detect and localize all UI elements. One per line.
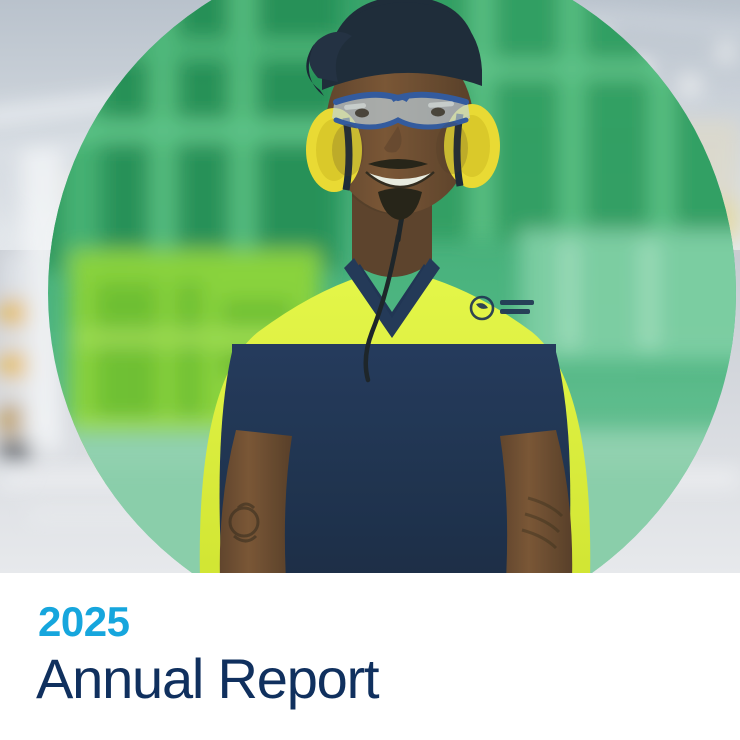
report-title: Annual Report [36, 651, 378, 707]
report-year: 2025 [38, 601, 129, 643]
cover-caption: 2025 Annual Report [0, 573, 740, 740]
hero-illustration [0, 0, 740, 573]
annual-report-cover: 2025 Annual Report [0, 0, 740, 740]
hero-photo-band [0, 0, 740, 573]
hero-photo [0, 0, 740, 573]
